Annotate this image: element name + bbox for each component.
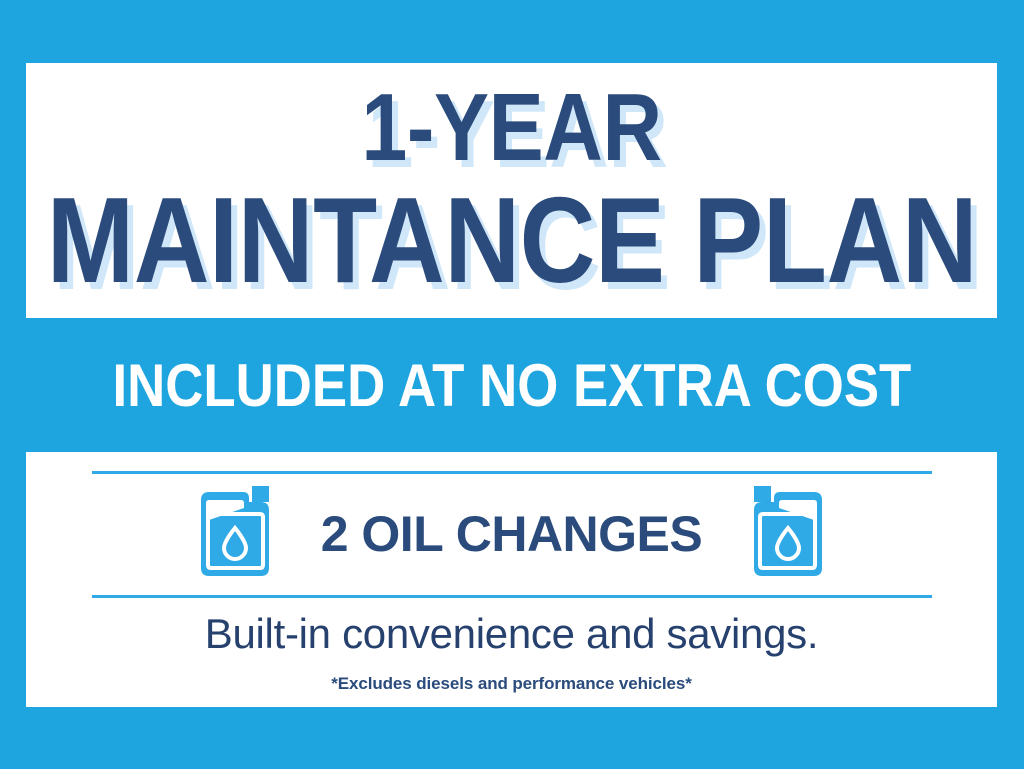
benefit-row: 2 OIL CHANGES: [26, 474, 997, 594]
headline-card: 1-YEAR MAINTANCE PLAN: [26, 63, 997, 318]
subtitle-band: INCLUDED AT NO EXTRA COST: [26, 318, 997, 452]
maintenance-plan-poster: 1-YEAR MAINTANCE PLAN INCLUDED AT NO EXT…: [0, 0, 1024, 769]
oil-jug-icon-right: [748, 484, 828, 585]
divider-bottom: [92, 595, 932, 598]
disclaimer: *Excludes diesels and performance vehicl…: [26, 674, 997, 694]
headline-line-1: 1-YEAR: [361, 81, 661, 175]
subtitle-text: INCLUDED AT NO EXTRA COST: [112, 351, 911, 420]
headline-line-2: MAINTANCE PLAN: [46, 181, 976, 301]
tagline: Built-in convenience and savings.: [26, 610, 997, 658]
benefit-label: 2 OIL CHANGES: [321, 505, 703, 563]
oil-jug-icon-left: [195, 484, 275, 585]
detail-card: 2 OIL CHANGES Built-in convenience and s…: [26, 452, 997, 707]
